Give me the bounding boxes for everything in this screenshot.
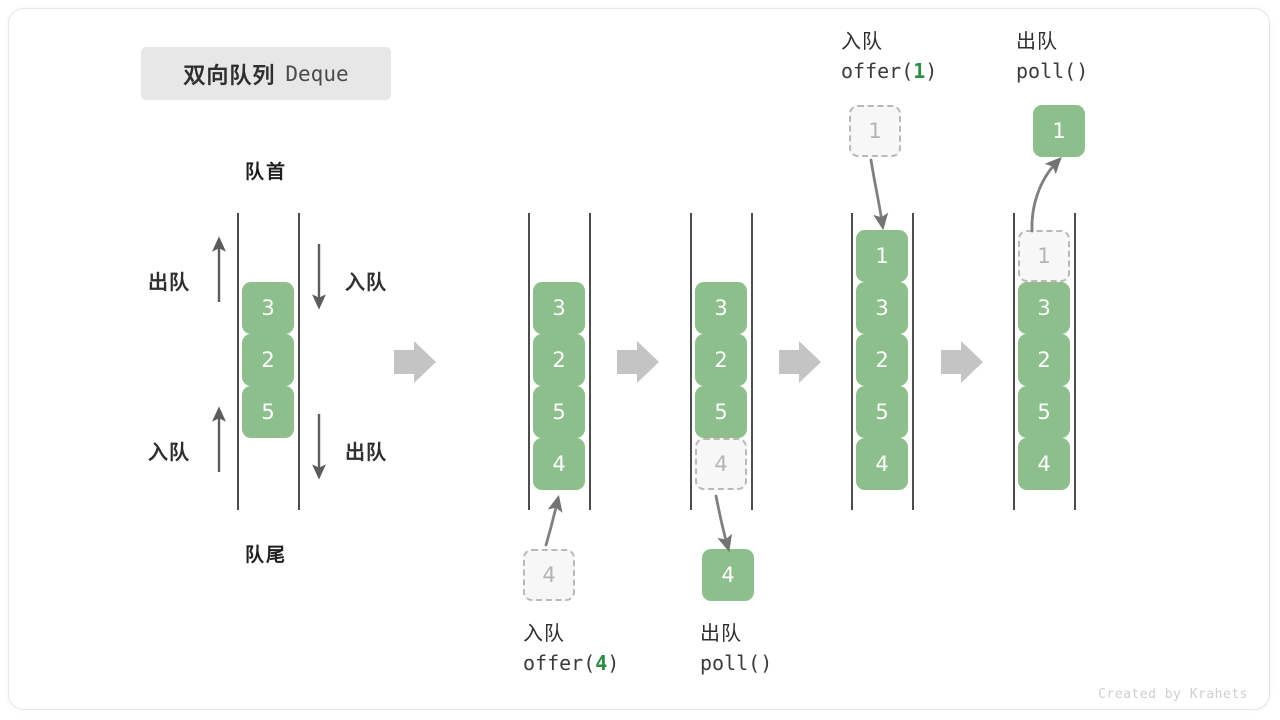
item-value: 2 [875, 348, 888, 372]
panel-1-item-1: 2 [242, 334, 294, 386]
item-value: 1 [875, 244, 888, 268]
panel-1-rail-right [298, 213, 300, 510]
panel-3-item-1: 2 [695, 334, 747, 386]
item-value: 4 [552, 452, 565, 476]
panel-4-item-3: 5 [856, 386, 908, 438]
panel-5-item-3: 5 [1018, 386, 1070, 438]
panel-3-item-0: 3 [695, 282, 747, 334]
code-suffix: ) [1076, 59, 1088, 83]
panel-4-rail-left [851, 213, 853, 510]
item-value: 5 [552, 400, 565, 424]
panel-2-item-3: 4 [533, 438, 585, 490]
caption-code: offer(4) [523, 649, 619, 678]
panel-3-caption: 出队 poll() [700, 620, 772, 678]
panel-4-item-0: 1 [856, 230, 908, 282]
panel-5-rail-right [1074, 213, 1076, 510]
item-value: 4 [875, 452, 888, 476]
panel-4-caption: 入队 offer(1) [841, 28, 937, 86]
item-value: 4 [721, 563, 734, 587]
item-value: 3 [1037, 296, 1050, 320]
panel-2-item-0: 3 [533, 282, 585, 334]
panel-5-item-0: 1 [1018, 230, 1070, 282]
item-value: 1 [868, 119, 881, 143]
caption-code: offer(1) [841, 57, 937, 86]
title-english: Deque [285, 62, 348, 86]
panel-5-floating-element: 1 [1033, 105, 1085, 157]
code-argument: 1 [913, 59, 925, 83]
item-value: 4 [1037, 452, 1050, 476]
panel-3-item-3: 4 [695, 438, 747, 490]
caption-chinese: 出队 [700, 620, 772, 649]
panel-1-rail-left [237, 213, 239, 510]
code-prefix: offer( [841, 59, 913, 83]
item-value: 5 [1037, 400, 1050, 424]
legend-right-top-label: 入队 [345, 266, 387, 295]
code-prefix: offer( [523, 651, 595, 675]
legend-right-bottom-label: 出队 [345, 436, 387, 465]
item-value: 1 [1037, 244, 1050, 268]
panel-5-item-4: 4 [1018, 438, 1070, 490]
panel-4-rail-right [912, 213, 914, 510]
rear-label: 队尾 [206, 540, 326, 567]
caption-code: poll() [700, 649, 772, 678]
item-value: 3 [261, 296, 274, 320]
diagram-title: 双向队列 Deque [141, 47, 391, 100]
panel-1-item-0: 3 [242, 282, 294, 334]
item-value: 2 [714, 348, 727, 372]
item-value: 2 [552, 348, 565, 372]
item-value: 5 [261, 400, 274, 424]
panel-2-item-1: 2 [533, 334, 585, 386]
item-value: 4 [542, 563, 555, 587]
panel-2-caption: 入队 offer(4) [523, 620, 619, 678]
code-suffix: ) [607, 651, 619, 675]
panel-3-rail-right [751, 213, 753, 510]
panel-1-item-2: 5 [242, 386, 294, 438]
code-argument: 4 [595, 651, 607, 675]
title-chinese: 双向队列 [183, 58, 275, 90]
panel-2-floating-element: 4 [523, 549, 575, 601]
panel-4-item-4: 4 [856, 438, 908, 490]
code-suffix: ) [925, 59, 937, 83]
legend-left-bottom-label: 入队 [148, 436, 190, 465]
panel-4-item-2: 2 [856, 334, 908, 386]
item-value: 2 [261, 348, 274, 372]
panel-5-item-2: 2 [1018, 334, 1070, 386]
panel-3-floating-element: 4 [702, 549, 754, 601]
caption-chinese: 入队 [841, 28, 937, 57]
panel-5-caption: 出队 poll() [1016, 28, 1088, 86]
item-value: 3 [714, 296, 727, 320]
panel-3-item-2: 5 [695, 386, 747, 438]
caption-chinese: 出队 [1016, 28, 1088, 57]
credit-label: Created by Krahets [1098, 687, 1248, 702]
item-value: 2 [1037, 348, 1050, 372]
panel-5-item-1: 3 [1018, 282, 1070, 334]
legend-left-top-label: 出队 [148, 266, 190, 295]
panel-2-rail-left [528, 213, 530, 510]
item-value: 4 [714, 452, 727, 476]
code-suffix: ) [760, 651, 772, 675]
panel-2-item-2: 5 [533, 386, 585, 438]
panel-2-rail-right [589, 213, 591, 510]
code-prefix: poll( [1016, 59, 1076, 83]
item-value: 5 [714, 400, 727, 424]
panel-4-item-1: 3 [856, 282, 908, 334]
item-value: 3 [552, 296, 565, 320]
caption-code: poll() [1016, 57, 1088, 86]
item-value: 5 [875, 400, 888, 424]
item-value: 1 [1052, 119, 1065, 143]
diagram-canvas: 双向队列 Deque 队首 队尾 3 2 5 出队 入队 入队 出队 3 2 5… [0, 0, 1280, 720]
caption-chinese: 入队 [523, 620, 619, 649]
code-prefix: poll( [700, 651, 760, 675]
panel-4-floating-element: 1 [849, 105, 901, 157]
panel-5-rail-left [1013, 213, 1015, 510]
front-label: 队首 [206, 157, 326, 184]
item-value: 3 [875, 296, 888, 320]
panel-3-rail-left [690, 213, 692, 510]
